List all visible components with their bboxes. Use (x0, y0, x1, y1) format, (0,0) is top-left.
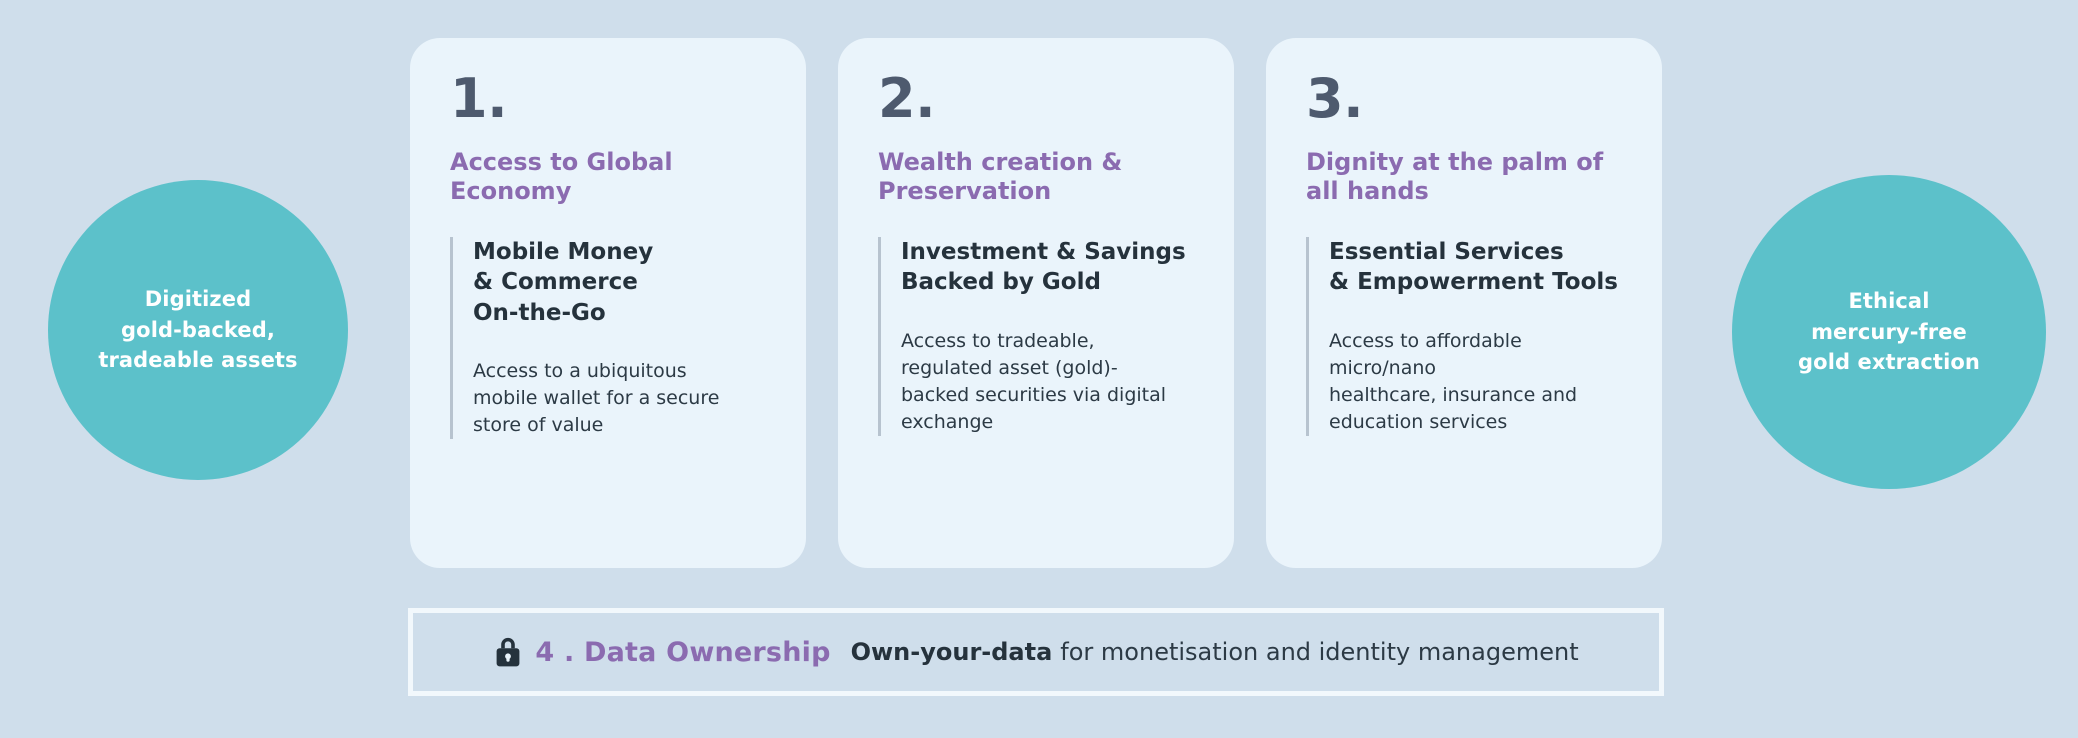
card-2-number: 2. (878, 72, 1194, 126)
infographic-canvas: Digitized gold-backed, tradeable assets … (0, 0, 2078, 738)
circle-left-label: Digitized gold-backed, tradeable assets (98, 284, 297, 375)
card-1-title: Access to Global Economy (450, 148, 766, 207)
card-wealth-creation-preservation: 2. Wealth creation & Preservation Invest… (838, 38, 1234, 568)
banner-data-ownership: 4 . Data Ownership Own-your-data for mon… (408, 608, 1664, 696)
card-2-body: Investment & Savings Backed by Gold Acce… (878, 237, 1194, 436)
card-access-to-global-economy: 1. Access to Global Economy Mobile Money… (410, 38, 806, 568)
card-dignity-at-palm-of-all-hands: 3. Dignity at the palm of all hands Esse… (1266, 38, 1662, 568)
banner-step-label: 4 . Data Ownership (535, 637, 830, 668)
banner-rest-text: for monetisation and identity management (1060, 638, 1578, 666)
card-3-title: Dignity at the palm of all hands (1306, 148, 1622, 207)
lock-icon (493, 635, 523, 669)
circle-left-digitized-assets: Digitized gold-backed, tradeable assets (48, 180, 348, 480)
circle-right-label: Ethical mercury-free gold extraction (1798, 286, 1980, 377)
card-1-description: Access to a ubiquitous mobile wallet for… (473, 358, 766, 439)
card-3-subtitle: Essential Services & Empowerment Tools (1329, 237, 1622, 298)
card-2-title: Wealth creation & Preservation (878, 148, 1194, 207)
card-2-subtitle: Investment & Savings Backed by Gold (901, 237, 1194, 298)
circle-right-ethical-extraction: Ethical mercury-free gold extraction (1732, 175, 2046, 489)
card-1-subtitle: Mobile Money & Commerce On-the-Go (473, 237, 766, 329)
banner-emphasis-text: Own-your-data (851, 638, 1053, 666)
card-2-description: Access to tradeable, regulated asset (go… (901, 328, 1194, 436)
card-1-body: Mobile Money & Commerce On-the-Go Access… (450, 237, 766, 440)
card-3-number: 3. (1306, 72, 1622, 126)
card-3-description: Access to affordable micro/nano healthca… (1329, 328, 1622, 436)
card-3-body: Essential Services & Empowerment Tools A… (1306, 237, 1622, 436)
card-1-number: 1. (450, 72, 766, 126)
banner-content: 4 . Data Ownership Own-your-data for mon… (493, 635, 1578, 669)
